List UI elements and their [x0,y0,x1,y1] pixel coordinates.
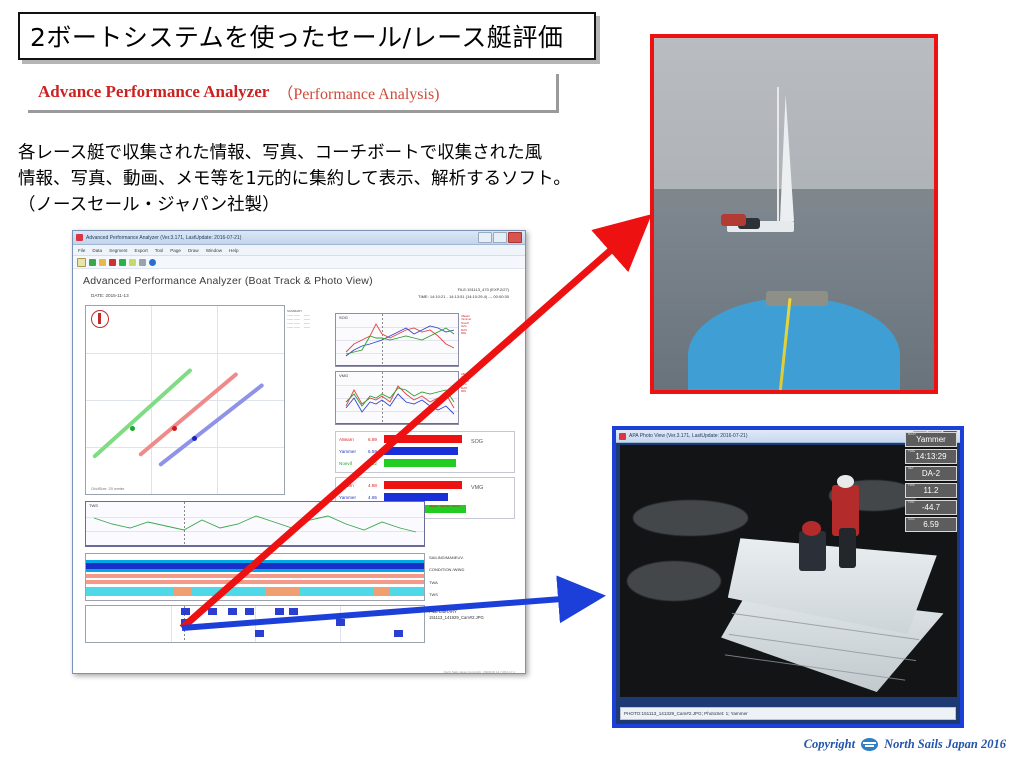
menu-item-data[interactable]: Data [92,248,102,253]
photo-crew-standing-legs [839,528,856,568]
apa-page-heading: Advanced Performance Analyzer (Boat Trac… [83,275,373,287]
photo-field-boat-caption: BOAT [908,432,916,436]
gridsize-label: GridSize: 20 meter [91,486,124,491]
body-paragraph: 各レース艇で収集された情報、写真、コーチボートで収集された風 情報、写真、動画、… [18,140,618,218]
table-icon[interactable] [129,259,136,266]
save-icon[interactable] [99,259,106,266]
copyright-company: North Sails Japan 2016 [884,737,1006,752]
file-library-label: FILE LIBRARY 151113_141929_Cam#2.JPG [429,609,484,621]
copyright-word: Copyright [804,737,855,752]
photo-field-tws-value: 11.2 [924,486,939,495]
bar-value: 6.59 [368,449,381,454]
library-thumb[interactable] [228,608,237,615]
sog-bar-group-label: SOG [471,439,483,445]
track-red-marker [172,426,177,431]
open-folder-icon[interactable] [89,259,96,266]
apa-title-bar[interactable]: Advanced Performance Analyzer (Ver.3.171… [73,231,525,245]
apa-toolbar[interactable] [73,256,525,269]
maximize-button[interactable] [493,232,507,243]
apa-footer-note: North Sails Japan Copyright : PERIOD 14.… [444,670,515,674]
bar-value: 6.52 [368,461,381,466]
band-label-condition: CONDITION /WIND [429,567,464,572]
photo-field-time[interactable]: TIME 14:13:29 [905,449,957,464]
photo-wake [633,500,748,535]
library-thumb[interactable] [336,619,345,626]
photo-field-tws[interactable]: TWS 11.2 [905,483,957,498]
apa-time-label: TIME: 14:10:21 - 14:13:51 (14:10:29.4) -… [418,294,509,299]
subheading-banner: Advance Performance Analyzer （Performanc… [28,74,559,113]
photo-status-text: PHOTO:151113_141329_Cam#2.JPG; PhotoSet:… [624,711,748,716]
file-library-item: 151113_141929_Cam#2.JPG [429,615,484,620]
track-green-marker [130,426,135,431]
slide-title-box: 2ボートシステムを使ったセール/レース艇評価 [18,12,596,60]
bar-row: Noevif 6.52 [339,459,456,467]
bar-fill [384,459,456,467]
photo-field-set-value: DA-2 [922,469,940,478]
library-thumb[interactable] [245,608,254,615]
library-thumb[interactable] [208,608,217,615]
track-green [92,368,193,459]
bar-row: Yammer 4.65 [339,493,448,501]
photo-sky [654,38,934,200]
boat-track-plot[interactable]: GridSize: 20 meter [85,305,285,495]
tws-series-line [86,502,424,546]
photo-view-title: APA Photo View (Ver.3.171, LastUpdate: 2… [629,433,748,439]
menu-item-help[interactable]: Help [229,248,238,253]
play-icon[interactable] [119,259,126,266]
window-controls[interactable] [478,232,522,243]
photo-field-twa[interactable]: TWA -44.7 [905,500,957,515]
bar-boat-name: A8earn [339,483,365,488]
photo-crew-crouching [799,531,826,571]
photo-field-set-caption: SET [908,466,914,470]
menu-item-window[interactable]: Window [206,248,222,253]
photo-field-sog-value: 6.59 [923,520,939,529]
photo-wake [627,561,721,601]
photo-field-twa-caption: TWA [908,500,915,504]
bar-boat-name: Yammer [339,495,365,500]
menu-item-export[interactable]: Export [135,248,148,253]
band-label-sailing: SAILING/MANEUV. [429,555,464,560]
library-thumb[interactable] [181,619,190,626]
photo-field-time-value: 14:13:29 [915,452,946,461]
photo-crew-red [721,214,746,226]
apa-menu-bar[interactable]: File Data Segment Export Tool Page Draw … [73,245,525,256]
subheading-main: Advance Performance Analyzer [28,82,269,102]
bar-boat-name: Yammer [339,449,365,454]
apa-application-window[interactable]: Advanced Performance Analyzer (Ver.3.171… [72,230,526,674]
library-thumb[interactable] [181,608,190,615]
bar-row: A8earn 6.89 [339,435,462,443]
subheading-sub: （Performance Analysis) [269,80,439,104]
page-title: 2ボートシステムを使ったセール/レース艇評価 [20,18,563,54]
photo-status-bar: PHOTO:151113_141329_Cam#2.JPG; PhotoSet:… [620,707,956,720]
vmg-series-lines [336,372,458,424]
bar-fill [384,481,462,489]
library-thumb[interactable] [255,630,264,637]
apa-file-label: FILE:151113_470 (EXP.2/27) [458,287,509,292]
bar-row: A8earn 4.88 [339,481,462,489]
photo-crew-helmet-white [837,475,854,488]
sog-chart-legend: A8earnYammerNoevifAVGMAXMIN [461,315,471,335]
north-arrow-icon [91,310,109,328]
info-icon[interactable] [149,259,156,266]
vmg-chart-legend: A8earnYammerNoevifAVGMAXMIN [461,373,471,393]
bar-value: 4.65 [368,495,381,500]
print-icon[interactable] [139,259,146,266]
wind-timeseries-panel[interactable]: TWS [85,501,425,547]
menu-item-segment[interactable]: Segment [109,248,127,253]
close-button[interactable] [508,232,522,243]
photo-field-sog-caption: SOG [908,517,915,521]
bar-value: 4.88 [368,483,381,488]
bar-fill [384,493,448,501]
bar-value: 6.89 [368,437,381,442]
photo-field-twa-value: -44.7 [922,503,940,512]
north-sails-logo-icon [861,738,878,751]
vmg-timeseries-chart[interactable]: VMG [335,371,459,425]
photo-coach-boat [650,34,938,394]
photo-data-panel[interactable]: BOAT Yammer TIME 14:13:29 SET DA-2 TWS 1… [905,432,957,532]
file-library-panel[interactable] [85,605,425,643]
photo-crew-helmet-red [802,521,821,536]
sog-timeseries-chart[interactable]: SOG [335,313,459,367]
stop-icon[interactable] [109,259,116,266]
apa-canvas: Advanced Performance Analyzer (Boat Trac… [73,269,525,674]
app-icon [76,234,83,241]
library-thumb[interactable] [289,608,298,615]
library-thumb[interactable] [394,630,403,637]
copyright-footer: Copyright North Sails Japan 2016 [804,737,1006,752]
bar-boat-name: Noevif [339,461,365,466]
photo-field-sog[interactable]: SOG 6.59 [905,517,957,532]
photo-app-icon [619,433,626,440]
bar-fill [384,435,462,443]
menu-item-draw[interactable]: Draw [188,248,199,253]
bar-row: Yammer 6.59 [339,447,458,455]
photo-field-tws-caption: TWS [908,483,915,487]
sog-series-lines [336,314,458,366]
wind-timeseries-legend: A8earn Yammer Noevif [429,505,459,508]
library-thumb[interactable] [275,608,284,615]
file-library-title: FILE LIBRARY [429,609,457,614]
photo-bow-fitting [766,291,828,305]
menu-item-tool[interactable]: Tool [155,248,163,253]
mini-stats-table: SUMMARY —— ———— —— ———— —— ———— —— ———— [287,309,331,335]
new-file-icon[interactable] [77,258,86,267]
bar-fill [384,447,458,455]
photo-field-boat-value: Yammer [916,435,946,444]
condition-bands-panel[interactable] [85,553,425,601]
band-label-twa: TWA [429,580,438,585]
photo-field-set[interactable]: SET DA-2 [905,466,957,481]
bar-boat-name: A8earn [339,437,365,442]
photo-field-time-caption: TIME [908,449,915,453]
apa-photo-view-window[interactable]: APA Photo View (Ver.3.171, LastUpdate: 2… [612,426,964,728]
minimize-button[interactable] [478,232,492,243]
apa-window-title: Advanced Performance Analyzer (Ver.3.171… [86,235,241,241]
photo-mast [777,87,779,221]
band-label-tws: TWS [429,592,438,597]
vmg-bar-group-label: VMG [471,485,483,491]
track-blue-marker [192,436,197,441]
menu-item-file[interactable]: File [78,248,85,253]
apa-date-label: DATE: 2015-11-13 [91,293,129,298]
photo-field-boat[interactable]: BOAT Yammer [905,432,957,447]
menu-item-page[interactable]: Page [170,248,181,253]
